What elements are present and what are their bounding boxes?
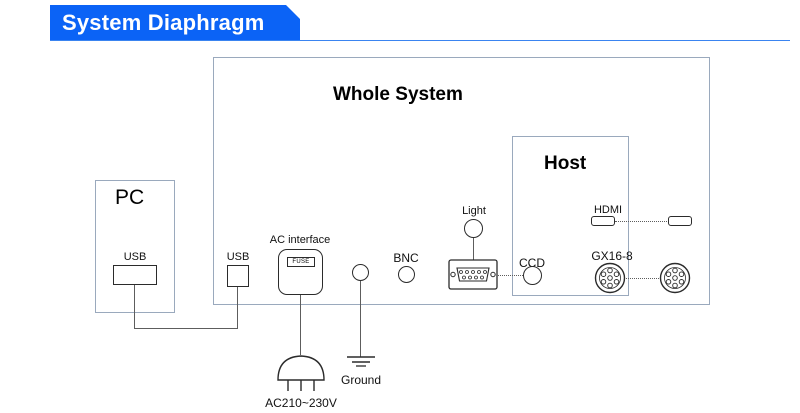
light-port[interactable] <box>464 219 483 238</box>
ccd-port[interactable] <box>523 266 542 285</box>
hdmi-label: HDMI <box>589 204 627 216</box>
ground-wire <box>360 281 361 357</box>
system-usb-label: USB <box>219 251 257 263</box>
gx16-label: GX16-8 <box>585 249 639 263</box>
header-banner: System Diaphragm <box>50 5 300 40</box>
pc-usb-wire-horizontal <box>134 328 238 329</box>
hdmi-port-external[interactable] <box>668 216 692 226</box>
db9-connector-icon[interactable] <box>448 259 498 290</box>
bnc-label: BNC <box>389 251 423 265</box>
system-usb-wire-vertical <box>237 287 238 329</box>
ac-power-wire <box>300 295 301 355</box>
ground-terminal-port[interactable] <box>352 264 369 281</box>
ground-icon <box>342 355 380 373</box>
ac-interface-port[interactable] <box>278 249 323 295</box>
light-label: Light <box>456 205 492 217</box>
whole-system-title: Whole System <box>333 84 463 106</box>
page-title: System Diaphragm <box>62 5 265 40</box>
gx16-wire <box>626 278 661 279</box>
gx16-connector-host-icon[interactable] <box>594 262 626 294</box>
system-usb-port[interactable] <box>227 265 249 287</box>
pc-usb-port[interactable] <box>113 265 157 285</box>
bnc-port[interactable] <box>398 266 415 283</box>
ground-label: Ground <box>337 373 385 387</box>
hdmi-wire <box>615 221 669 222</box>
ac-interface-label: AC interface <box>261 234 339 246</box>
pc-title: PC <box>115 186 144 210</box>
fuse-label: FUSE <box>287 257 315 267</box>
pc-usb-wire-vertical <box>134 285 135 329</box>
host-title: Host <box>544 153 586 175</box>
pc-usb-label: USB <box>113 251 157 263</box>
hdmi-port-host[interactable] <box>591 216 615 226</box>
gx16-connector-external-icon[interactable] <box>659 262 691 294</box>
ac-plug-icon <box>272 352 330 386</box>
header-divider <box>50 40 790 41</box>
dsub-to-ccd-wire <box>498 275 523 276</box>
ac-voltage-label: AC210~230V <box>249 396 353 410</box>
